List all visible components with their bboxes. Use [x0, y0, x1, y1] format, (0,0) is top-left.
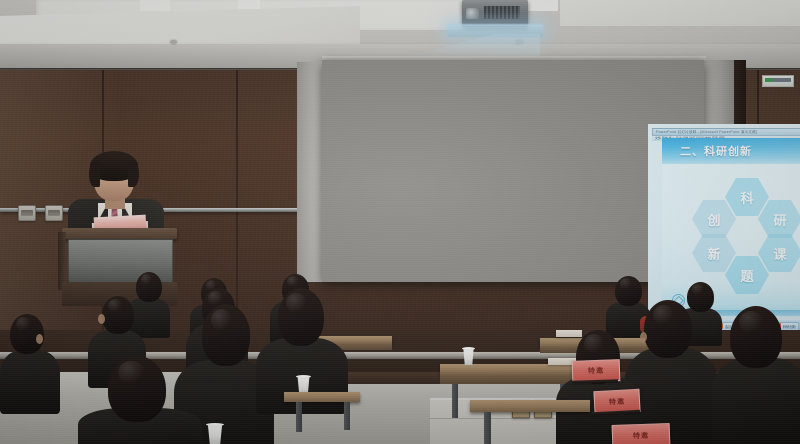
hexagon-diagram: 科 创 研 新 课 题 [688, 178, 800, 283]
name-card-3-text: 特邀 [633, 431, 649, 442]
projector [462, 0, 528, 27]
desk-leg-4 [296, 402, 302, 432]
hexagon-yan: 研 [758, 200, 800, 238]
desk-front-center [284, 392, 360, 402]
audience-body [0, 350, 60, 414]
name-card-3: 特邀 [612, 423, 671, 444]
ceiling-speaker-2 [516, 40, 523, 44]
presenter-hair-side-right [128, 161, 139, 187]
audience-head [102, 296, 134, 334]
projector-lens [466, 8, 479, 19]
audience-head [730, 306, 782, 368]
ppt-window-title: PowerPoint 幻灯片放映 - [Microsoft PowerPoint… [656, 130, 757, 135]
audience-head [202, 304, 250, 366]
hexagon-chuang: 创 [692, 200, 736, 238]
paper-cup-front-1-rim [206, 423, 224, 426]
desk-front-right [470, 400, 590, 412]
audience-head [644, 300, 692, 358]
podium-top-surface [62, 228, 177, 239]
audience-body [712, 358, 800, 444]
presenter-hair-side-left [89, 161, 100, 187]
audience-ear [98, 314, 105, 324]
audience-head [108, 356, 166, 422]
projector-light-glow [447, 24, 543, 37]
paper-cup-front-2-rim [296, 375, 311, 378]
hexagon-ke: 科 [725, 178, 769, 216]
desk-leg-5 [344, 402, 350, 430]
slide-title: 二、科研创新 [680, 143, 752, 159]
audience-ear [36, 334, 43, 344]
paper-cup-middle-1-rim [462, 347, 475, 350]
hexagon-xin: 新 [692, 234, 736, 272]
hexagon-ke2: 课 [758, 234, 800, 272]
ceiling-recess-right [560, 0, 800, 26]
ceiling-speaker-1 [170, 40, 177, 44]
audience-member-front-1 [78, 356, 202, 444]
audience-head [278, 288, 324, 346]
wall-outlet-1 [18, 205, 36, 221]
conference-room-photo: PowerPoint 幻灯片放映 - [Microsoft PowerPoint… [0, 0, 800, 444]
desk-leg-1 [452, 384, 458, 418]
ceiling-light-1 [140, 0, 170, 11]
name-card-2-text: 特邀 [609, 396, 626, 407]
projector-vent [484, 6, 520, 19]
audience-member-front-4 [712, 306, 800, 444]
ceiling-light-3 [528, 0, 558, 11]
ppt-window-titlebar[interactable]: PowerPoint 幻灯片放映 - [Microsoft PowerPoint… [652, 128, 800, 136]
ceiling-light-2 [238, 0, 260, 9]
desk-leg-3 [484, 412, 491, 444]
audience-member-mid-3 [0, 314, 60, 412]
wall-sign [762, 75, 794, 87]
projection-screen-frame: PowerPoint 幻灯片放映 - [Microsoft PowerPoint… [322, 60, 704, 282]
name-card-1-text: 特邀 [588, 366, 604, 377]
